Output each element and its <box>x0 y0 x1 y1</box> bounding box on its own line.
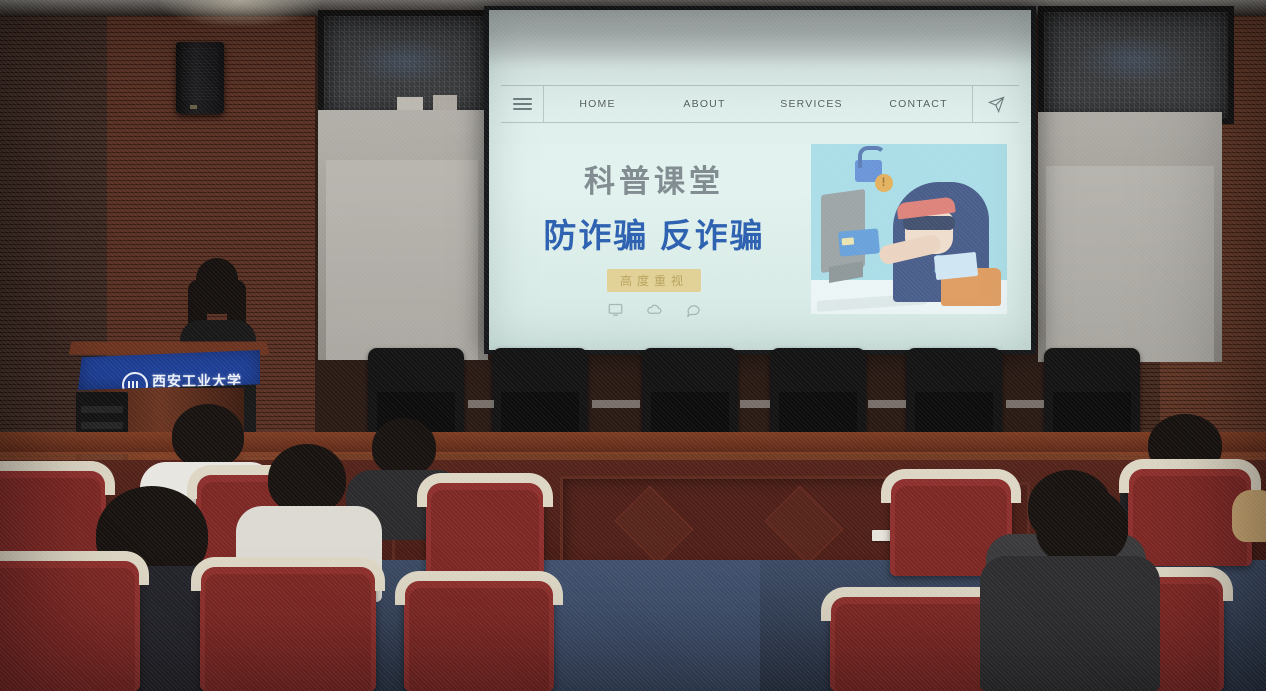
control-room-window-right <box>1038 6 1234 124</box>
hacker-stealing-credit-card-illustration <box>811 144 1007 314</box>
window-object <box>433 95 457 110</box>
cloud-icon <box>647 302 662 317</box>
panel-diamond <box>764 485 843 564</box>
ceiling-light <box>160 0 320 26</box>
window-reflection <box>1077 35 1191 84</box>
presenter-hair <box>196 258 238 314</box>
chat-bubble-icon <box>686 302 701 317</box>
control-room-window-left <box>318 10 495 122</box>
slide-navbar: HOME ABOUT SERVICES CONTACT <box>501 85 1019 123</box>
speaker-led <box>190 105 197 109</box>
nav-link-services[interactable]: SERVICES <box>758 98 865 110</box>
nav-link-about[interactable]: ABOUT <box>651 98 758 110</box>
panel-diamond <box>614 485 693 564</box>
auditorium-seat[interactable] <box>404 580 554 691</box>
nav-link-home[interactable]: HOME <box>544 98 651 110</box>
wall-speaker-icon <box>176 42 224 114</box>
stage-chair <box>492 348 588 440</box>
stage-chair <box>906 348 1002 440</box>
audience-head <box>172 404 244 468</box>
slide-text-block: 科普课堂 防诈骗 反诈骗 高度重视 <box>529 156 779 317</box>
auditorium-seat[interactable] <box>426 482 544 578</box>
audience-head-with-hat <box>1232 490 1266 542</box>
nav-link-contact[interactable]: CONTACT <box>865 98 972 110</box>
stage-chair <box>642 348 738 440</box>
slide-subheadline: 防诈骗 反诈骗 <box>529 209 779 257</box>
screen-glare <box>489 10 1031 72</box>
acoustic-wall-right-inset <box>1046 166 1214 362</box>
stage-chair <box>1044 348 1140 440</box>
acoustic-wall-left-inset <box>326 160 478 360</box>
projected-slide: HOME ABOUT SERVICES CONTACT 科普课堂 防诈骗 反诈骗… <box>489 10 1031 350</box>
navbar-links: HOME ABOUT SERVICES CONTACT <box>544 98 972 110</box>
audience-head <box>1036 486 1128 566</box>
slide-content: 科普课堂 防诈骗 反诈骗 高度重视 <box>489 130 1031 350</box>
slide-badge: 高度重视 <box>607 269 701 292</box>
auditorium-seat[interactable] <box>200 566 376 691</box>
window-reflection <box>354 38 456 84</box>
projection-haze <box>811 144 1007 314</box>
stage-chair <box>770 348 866 440</box>
slide-headline: 科普课堂 <box>529 156 779 201</box>
lecture-hall-scene: HOME ABOUT SERVICES CONTACT 科普课堂 防诈骗 反诈骗… <box>0 0 1266 691</box>
audience-head <box>268 444 346 514</box>
window-object <box>397 97 423 110</box>
hamburger-menu-icon[interactable] <box>501 86 544 122</box>
paper-plane-icon[interactable] <box>972 86 1019 122</box>
podium-banner: 西安工业大学 XI'AN TECHNOLOGICAL UNIVERSITY <box>78 350 260 390</box>
monitor-icon <box>608 302 623 317</box>
audience-head <box>372 418 436 476</box>
stage-chair-row <box>360 348 1180 443</box>
audience-body <box>980 556 1160 691</box>
slide-feature-icons <box>529 302 779 317</box>
auditorium-seat[interactable] <box>0 560 140 691</box>
